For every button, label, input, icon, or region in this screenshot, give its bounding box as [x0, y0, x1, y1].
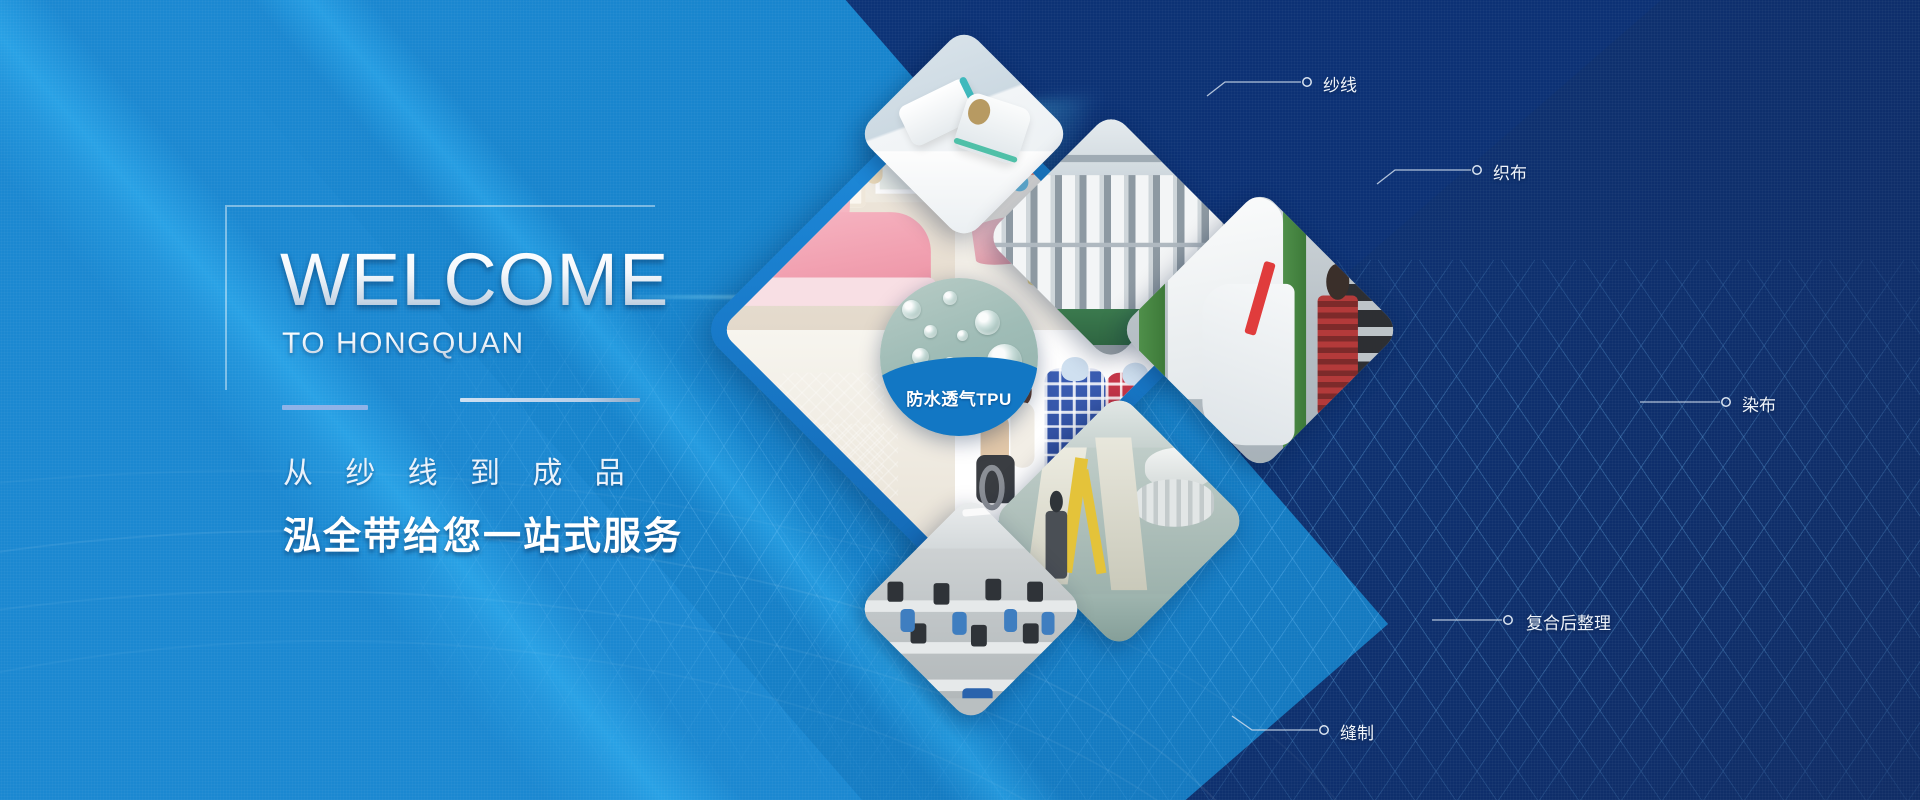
- callout-label-sewing: 缝制: [1340, 719, 1374, 744]
- hero-banner: WELCOME TO HONGQUAN 从 纱 线 到 成 品 泓全带给您一站式…: [0, 0, 1920, 800]
- callout-label-dyeing: 染布: [1742, 391, 1776, 416]
- callout-label-laminating: 复合后整理: [1526, 609, 1611, 634]
- callout-label-weaving: 织布: [1493, 159, 1527, 184]
- accent-rule-long: [460, 398, 640, 402]
- tagline-text: 从 纱 线 到 成 品: [283, 448, 637, 492]
- callout-label-yarn: 纱线: [1323, 71, 1357, 96]
- waterproof-badge-label: 防水透气TPU: [880, 385, 1038, 410]
- welcome-heading: WELCOME: [280, 243, 669, 317]
- welcome-subheading: TO HONGQUAN: [282, 329, 525, 359]
- accent-rule-short: [282, 405, 368, 410]
- headline-text: 泓全带给您一站式服务: [283, 505, 683, 560]
- waterproof-badge-circle: 防水透气TPU: [880, 278, 1038, 436]
